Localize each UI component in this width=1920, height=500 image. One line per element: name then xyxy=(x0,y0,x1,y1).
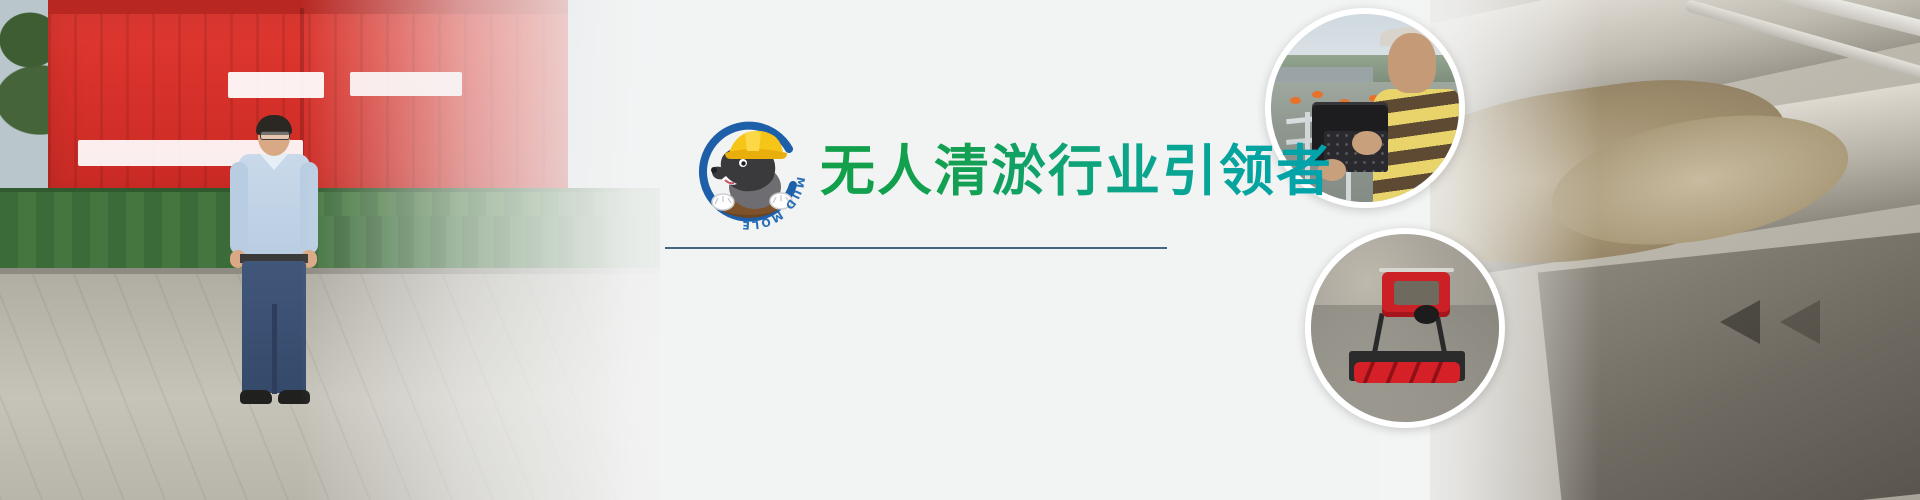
operator-hand-right xyxy=(1352,131,1382,155)
center-content: MUD MOLE 无人清淤行业引领者 xyxy=(660,0,1280,500)
hero-banner: MUD MOLE 无人清淤行业引领者 xyxy=(0,0,1920,500)
arrow-graphic-one xyxy=(1720,300,1760,344)
person-arm-left xyxy=(230,162,248,254)
left-photo xyxy=(0,0,660,500)
person-glasses xyxy=(260,131,290,140)
circle-photo-dredger xyxy=(1305,228,1505,428)
mud-mole-logo-icon: MUD MOLE xyxy=(685,105,813,233)
page-title: 无人清淤行业引领者 xyxy=(820,126,1333,206)
left-photo-fade xyxy=(300,0,660,500)
person-shoe-left xyxy=(240,390,272,404)
basin-float xyxy=(1290,97,1301,104)
dredger-deck xyxy=(1394,281,1439,305)
title-divider xyxy=(665,247,1167,249)
arrow-graphic-two xyxy=(1780,300,1820,344)
person-leg-gap xyxy=(272,304,277,394)
dredger-wheel xyxy=(1414,305,1438,324)
dredger-roll-bar xyxy=(1379,268,1454,272)
operator-head xyxy=(1388,33,1437,93)
